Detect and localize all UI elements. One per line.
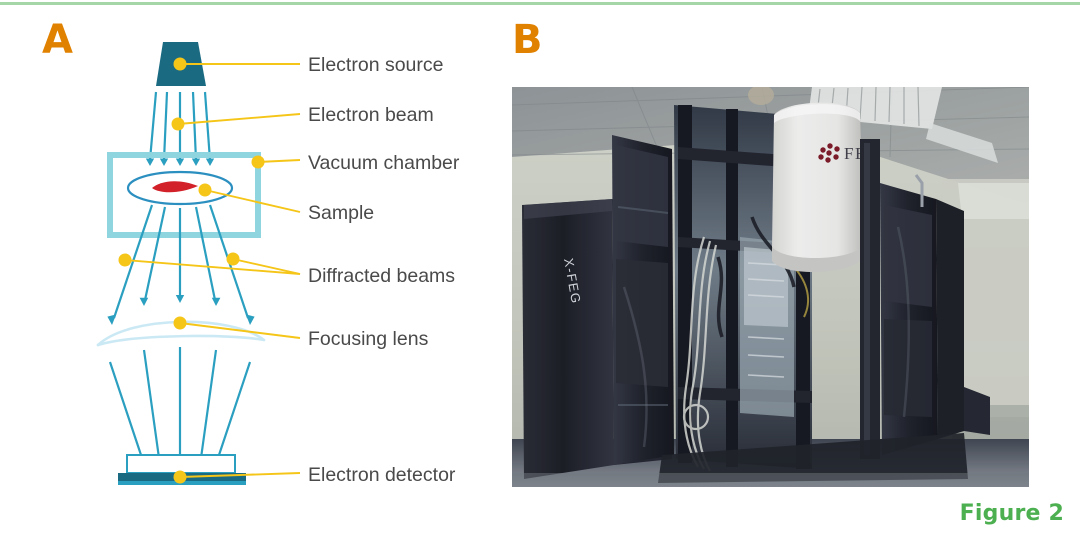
label-diffracted-beams: Diffracted beams bbox=[308, 265, 455, 287]
label-electron-detector: Electron detector bbox=[308, 464, 456, 486]
leader-dot-electron-source bbox=[174, 58, 187, 71]
leader-dot-diffracted-beams-left bbox=[119, 254, 132, 267]
label-electron-source: Electron source bbox=[308, 54, 443, 76]
panel-b-photograph: X-FEG bbox=[512, 87, 1029, 487]
leader-line-sample bbox=[205, 190, 300, 212]
leader-dot-diffracted-beams-right bbox=[227, 253, 240, 266]
sample-stage-shape bbox=[128, 172, 232, 204]
label-electron-beam: Electron beam bbox=[308, 104, 434, 126]
leader-dot-sample bbox=[199, 184, 212, 197]
leader-dot-electron-beam bbox=[172, 118, 185, 131]
label-vacuum-chamber: Vacuum chamber bbox=[308, 152, 460, 174]
panel-a-schematic: Electron source Electron beam Vacuum cha… bbox=[0, 0, 512, 538]
panel-label-b: B bbox=[512, 20, 543, 60]
leader-line-electron-beam bbox=[178, 114, 300, 124]
leader-dot-focusing-lens bbox=[174, 317, 187, 330]
leader-dot-electron-detector bbox=[174, 471, 187, 484]
photo-color-grade bbox=[512, 87, 1029, 487]
label-sample: Sample bbox=[308, 202, 374, 224]
figure-caption: Figure 2 bbox=[960, 501, 1064, 526]
label-focusing-lens: Focusing lens bbox=[308, 328, 429, 350]
figure-container: A B bbox=[0, 0, 1080, 538]
leader-dot-vacuum-chamber bbox=[252, 156, 265, 169]
leader-dots bbox=[119, 58, 265, 484]
focused-beam-arrows bbox=[110, 347, 250, 465]
